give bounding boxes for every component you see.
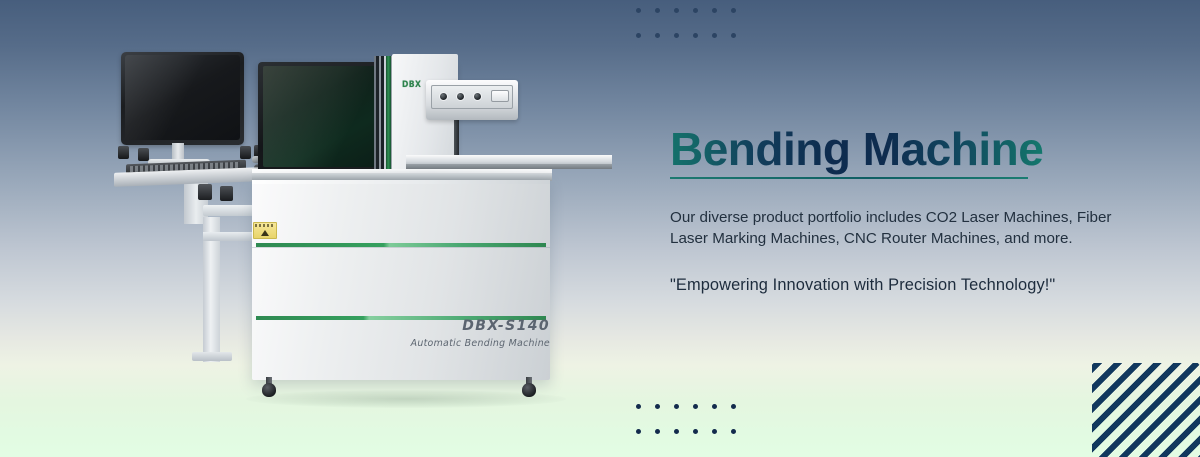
decorative-dot (693, 33, 698, 38)
cabinet-top-edge (252, 180, 550, 184)
control-knob (118, 146, 129, 159)
under-tray-module (220, 186, 233, 201)
hero-text-column: Bending Machine Our diverse product port… (670, 126, 1140, 295)
decorative-dot (636, 8, 641, 13)
decorative-dot (731, 429, 736, 434)
decorative-dot (693, 404, 698, 409)
machine-subtitle-label: Automatic Bending Machine (406, 338, 550, 349)
hero-description: Our diverse product portfolio includes C… (670, 208, 1125, 250)
hero-banner: DBX DBX-S140 Automatic Bending Machine (0, 0, 1200, 457)
decorative-dot (693, 429, 698, 434)
decorative-dot (636, 33, 641, 38)
striped-arc-shape (1092, 363, 1200, 457)
decorative-dot (731, 8, 736, 13)
panel-button (439, 92, 448, 101)
dot-grid-top (636, 8, 750, 58)
decorative-dot (636, 404, 641, 409)
floor-shadow (246, 390, 566, 408)
dot-grid-bottom (636, 404, 750, 454)
decorative-dot (731, 33, 736, 38)
warning-triangle-icon (261, 230, 269, 236)
panel-button (473, 92, 482, 101)
decorative-dot (655, 8, 660, 13)
panel-button (456, 92, 465, 101)
hero-tagline: "Empowering Innovation with Precision Te… (670, 276, 1140, 295)
decorative-dot (655, 33, 660, 38)
work-table-highlight (252, 169, 552, 173)
machine-cabinet (252, 180, 550, 380)
decorative-dot (655, 404, 660, 409)
decorative-dot (655, 429, 660, 434)
decorative-dot (712, 404, 717, 409)
decorative-dot (674, 8, 679, 13)
control-knob (138, 148, 149, 161)
control-knob (240, 146, 251, 159)
decorative-dot (712, 8, 717, 13)
title-underline (670, 177, 1028, 179)
decorative-dot (636, 429, 641, 434)
warning-label-text (255, 224, 275, 227)
decorative-dot (674, 33, 679, 38)
operator-monitor-glare (125, 55, 240, 140)
corner-stripe-decoration (1092, 363, 1200, 457)
under-tray-module (198, 184, 212, 200)
page-title: Bending Machine (670, 126, 1043, 176)
decorative-dot (712, 429, 717, 434)
machine-model-label: DBX-S140 (420, 318, 550, 334)
decorative-dot (731, 404, 736, 409)
decorative-dot (712, 33, 717, 38)
cabinet-panel-seam (252, 247, 550, 248)
panel-display (491, 90, 509, 102)
pedestal-foot (192, 352, 232, 361)
decorative-dot (693, 8, 698, 13)
bending-machine-illustration: DBX DBX-S140 Automatic Bending Machine (106, 42, 626, 392)
decorative-dot (674, 429, 679, 434)
decorative-dot (674, 404, 679, 409)
